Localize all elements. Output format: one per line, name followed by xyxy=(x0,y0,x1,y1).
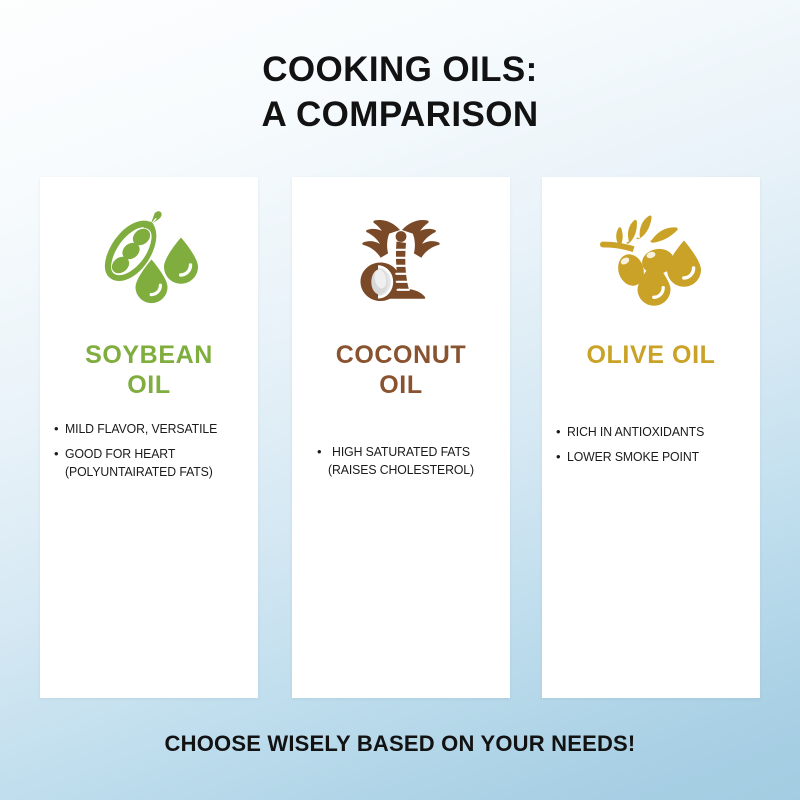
bullet-dot-icon: • xyxy=(556,448,567,466)
soybean-pod-and-oil-drops-icon xyxy=(40,204,258,316)
bullet-dot-icon: • xyxy=(556,423,567,441)
list-item: • GOOD FOR HEART (POLYUNTAIRATED FATS) xyxy=(54,445,244,481)
oil-card-bullets-coconut: • HIGH SATURATED FATS (RAISES CHOLESTERO… xyxy=(292,443,510,486)
bullet-dot-icon: • xyxy=(317,443,328,461)
oil-card-title-olive: OLIVE OIL xyxy=(542,340,760,370)
footer-callout: CHOOSE WISELY BASED ON YOUR NEEDS! xyxy=(0,731,800,757)
page-title-line-1: COOKING OILS: xyxy=(0,47,800,92)
page-title: COOKING OILS: A COMPARISON xyxy=(0,47,800,137)
list-item-label: HIGH SATURATED FATS (RAISES CHOLESTEROL) xyxy=(328,443,474,479)
list-item-label: RICH IN ANTIOXIDANTS xyxy=(567,423,733,441)
oil-card-title-line-1: OLIVE OIL xyxy=(542,340,760,370)
list-item-label: GOOD FOR HEART (POLYUNTAIRATED FATS) xyxy=(65,445,231,481)
olive-branch-and-oil-drops-icon xyxy=(542,204,760,316)
list-item: • LOWER SMOKE POINT xyxy=(556,448,746,466)
oil-card-title-coconut: COCONUT OIL xyxy=(292,340,510,400)
oil-card-title-line-1: SOYBEAN xyxy=(40,340,258,370)
list-item: • HIGH SATURATED FATS (RAISES CHOLESTERO… xyxy=(306,443,496,479)
oil-card-soybean[interactable]: SOYBEAN OIL • MILD FLAVOR, VERSATILE • G… xyxy=(40,177,258,698)
oil-card-title-soybean: SOYBEAN OIL xyxy=(40,340,258,400)
oil-card-title-line-2: OIL xyxy=(40,370,258,400)
list-item-label: MILD FLAVOR, VERSATILE xyxy=(65,420,231,438)
bullet-dot-icon: • xyxy=(54,420,65,438)
list-item: • RICH IN ANTIOXIDANTS xyxy=(556,423,746,441)
oil-card-bullets-olive: • RICH IN ANTIOXIDANTS • LOWER SMOKE POI… xyxy=(542,423,760,473)
oil-card-bullets-soybean: • MILD FLAVOR, VERSATILE • GOOD FOR HEAR… xyxy=(40,420,258,488)
comparison-cards: SOYBEAN OIL • MILD FLAVOR, VERSATILE • G… xyxy=(40,177,760,698)
oil-card-title-line-1: COCONUT xyxy=(292,340,510,370)
bullet-dot-icon: • xyxy=(54,445,65,463)
page-title-line-2: A COMPARISON xyxy=(0,92,800,137)
infographic-poster: COOKING OILS: A COMPARISON xyxy=(0,0,800,800)
list-item-label: LOWER SMOKE POINT xyxy=(567,448,733,466)
oil-card-title-line-2: OIL xyxy=(292,370,510,400)
list-item: • MILD FLAVOR, VERSATILE xyxy=(54,420,244,438)
oil-card-olive[interactable]: OLIVE OIL • RICH IN ANTIOXIDANTS • LOWER… xyxy=(542,177,760,698)
oil-card-coconut[interactable]: COCONUT OIL • HIGH SATURATED FATS (RAISE… xyxy=(292,177,510,698)
palm-tree-and-coconut-icon xyxy=(292,204,510,316)
